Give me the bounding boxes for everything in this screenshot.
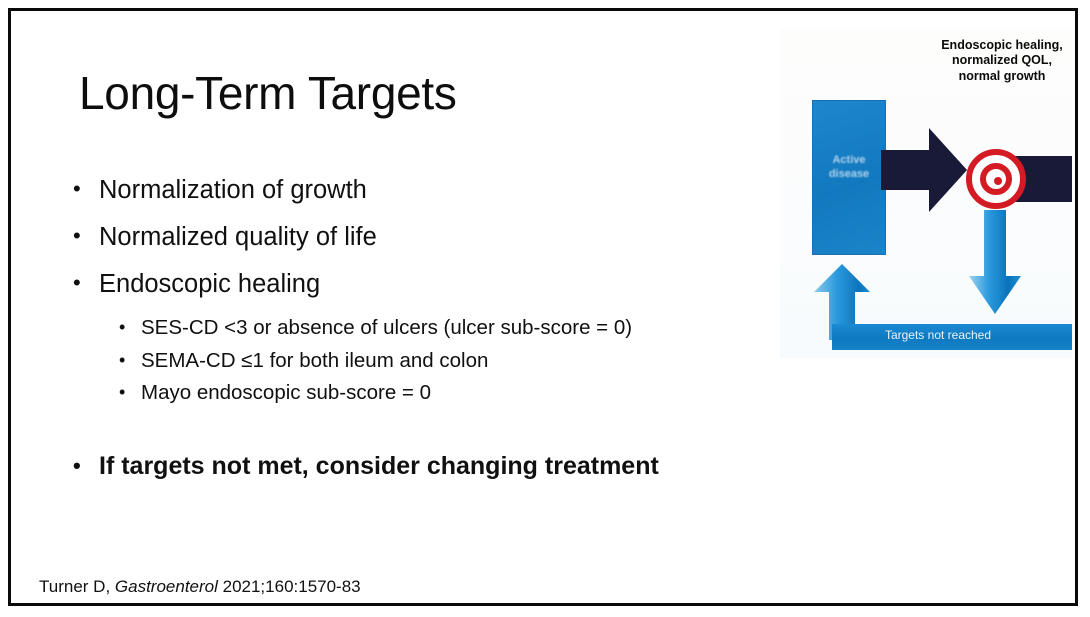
bullet-glyph: •	[73, 269, 99, 294]
bullet-glyph: •	[119, 316, 141, 336]
sub-bullet-item-3: • Mayo endoscopic sub-score = 0	[119, 381, 763, 406]
bullet-label: Normalized quality of life	[99, 222, 763, 252]
bullseye-target-icon	[966, 149, 1026, 209]
citation-author: Turner D,	[39, 577, 115, 596]
bullet-glyph: •	[119, 349, 141, 369]
bullet-label: If targets not met, consider changing tr…	[99, 452, 763, 482]
bullet-list: • Normalization of growth • Normalized q…	[73, 175, 763, 499]
bullet-item-1: • Normalization of growth	[73, 175, 763, 205]
citation-journal: Gastroenterol	[115, 577, 218, 596]
bullet-glyph: •	[119, 381, 141, 401]
bullet-label: Endoscopic healing	[99, 269, 763, 299]
blue-down-arrow-icon	[967, 210, 1023, 316]
sub-bullet-item-2: • SEMA-CD ≤1 for both ileum and colon	[119, 349, 763, 374]
citation-reference: 2021;160:1570-83	[218, 577, 361, 596]
bullet-glyph: •	[73, 452, 99, 477]
sub-bullet-item-1: • SES-CD <3 or absence of ulcers (ulcer …	[119, 316, 763, 341]
diagram-caption: Endoscopic healing, normalized QOL, norm…	[940, 38, 1064, 84]
citation: Turner D, Gastroenterol 2021;160:1570-83	[39, 577, 361, 597]
bullet-item-3: • Endoscopic healing	[73, 269, 763, 299]
sub-bullet-label: SES-CD <3 or absence of ulcers (ulcer su…	[141, 316, 763, 341]
bullseye-center	[994, 177, 1002, 185]
sub-bullet-label: SEMA-CD ≤1 for both ileum and colon	[141, 349, 763, 374]
feedback-label: Targets not reached	[832, 329, 1044, 342]
active-disease-label: Active disease	[813, 153, 885, 182]
list-spacer	[73, 414, 763, 452]
navy-right-arrow-icon	[881, 126, 967, 214]
sub-bullet-label: Mayo endoscopic sub-score = 0	[141, 381, 763, 406]
treat-to-target-diagram: Endoscopic healing, normalized QOL, norm…	[780, 28, 1072, 358]
bullet-label: Normalization of growth	[99, 175, 763, 205]
bullet-item-2: • Normalized quality of life	[73, 222, 763, 252]
bullet-glyph: •	[73, 222, 99, 247]
slide-frame: Long-Term Targets • Normalization of gro…	[8, 8, 1078, 606]
bullet-glyph: •	[73, 175, 99, 200]
bullseye-ring-inner	[980, 163, 1012, 195]
active-disease-box: Active disease	[812, 100, 886, 255]
page-title: Long-Term Targets	[79, 69, 457, 117]
bullet-item-conclusion: • If targets not met, consider changing …	[73, 452, 763, 482]
feedback-bar: Targets not reached	[832, 324, 1072, 350]
